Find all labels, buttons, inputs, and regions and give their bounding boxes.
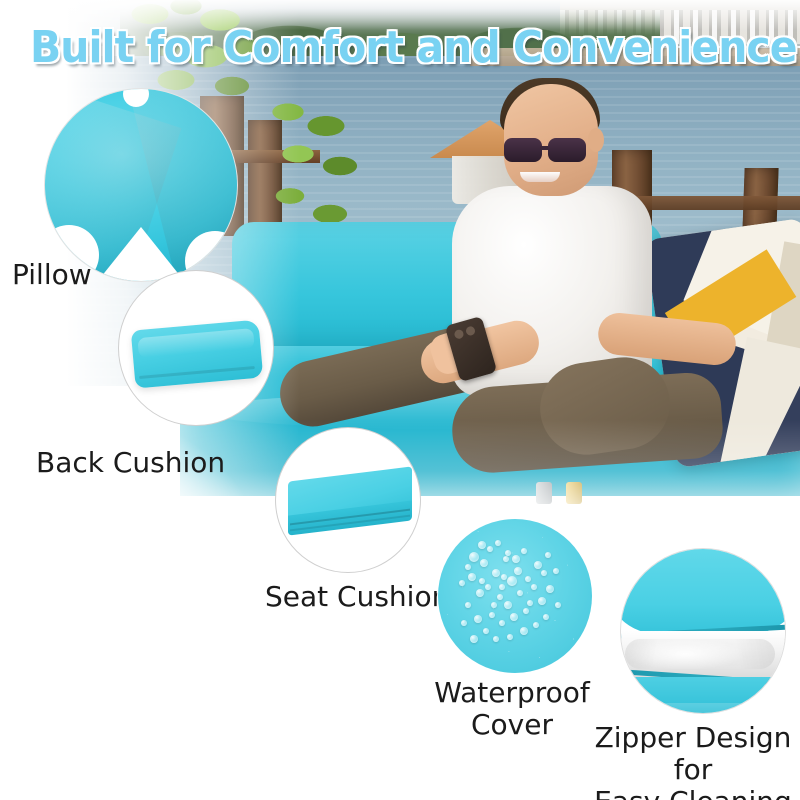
- callout-circle-zipper-design: [620, 548, 786, 714]
- callout-label-pillow: Pillow: [12, 258, 92, 291]
- product-feature-graphic: Built for Comfort and Convenience Pillow…: [0, 0, 800, 800]
- pillow-fabric-macro: [45, 89, 237, 281]
- waterproof-fabric-macro: [438, 519, 592, 673]
- man-smile: [520, 172, 560, 182]
- callout-circle-back-cushion: [118, 270, 274, 426]
- callout-label-seat-cushion: Seat Cushion: [265, 580, 449, 613]
- page-title: Built for Comfort and Convenience: [30, 25, 718, 71]
- callout-label-waterproof-cover: Waterproof Cover: [424, 677, 600, 741]
- callout-label-zipper-design: Zipper Design for Easy Cleaning: [586, 722, 800, 800]
- back-cushion-photo: [119, 271, 273, 425]
- callout-circle-waterproof-cover: [437, 518, 593, 674]
- seat-cushion-photo: [276, 428, 420, 572]
- sunglasses-icon: [504, 138, 596, 162]
- callout-circle-pillow: [44, 88, 238, 282]
- callout-circle-seat-cushion: [275, 427, 421, 573]
- callout-label-back-cushion: Back Cushion: [36, 446, 225, 479]
- zipper-opening-photo: [621, 549, 785, 713]
